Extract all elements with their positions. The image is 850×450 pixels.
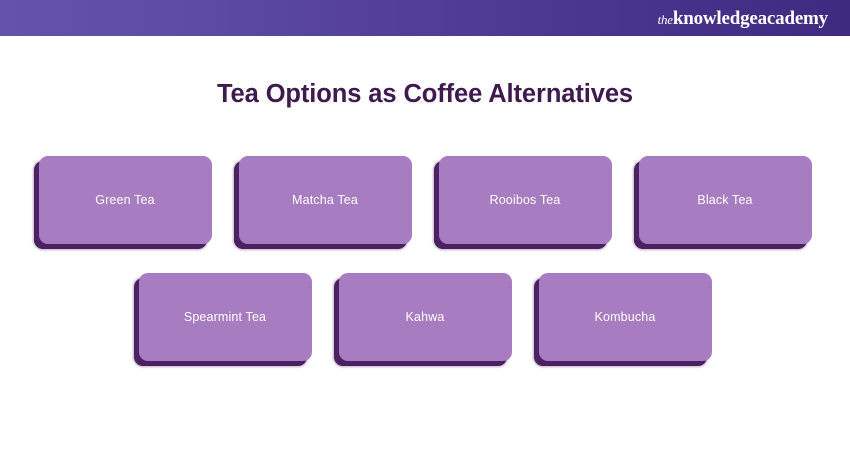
tea-option-label: Green Tea	[87, 193, 163, 208]
brand-prefix-text: the	[658, 12, 673, 27]
tea-option-label: Rooibos Tea	[482, 193, 569, 208]
tea-option-label: Kombucha	[587, 310, 664, 325]
card-row-1: Green Tea Matcha Tea Rooibos Tea Black T…	[0, 156, 850, 244]
brand-name-text: knowledgeacademy	[673, 8, 828, 29]
tea-option-label: Matcha Tea	[284, 193, 366, 208]
brand-logo: theknowledgeacademy	[658, 9, 828, 28]
tea-option-label: Kahwa	[398, 310, 453, 325]
page-title: Tea Options as Coffee Alternatives	[0, 80, 850, 109]
tea-option-card[interactable]: Kahwa	[339, 273, 512, 361]
card-grid: Green Tea Matcha Tea Rooibos Tea Black T…	[0, 156, 850, 361]
tea-option-card[interactable]: Rooibos Tea	[439, 156, 612, 244]
tea-option-label: Black Tea	[689, 193, 760, 208]
tea-option-card[interactable]: Spearmint Tea	[139, 273, 312, 361]
header-bar: theknowledgeacademy	[0, 0, 850, 36]
tea-option-card[interactable]: Matcha Tea	[239, 156, 412, 244]
tea-option-label: Spearmint Tea	[176, 310, 274, 325]
card-row-2: Spearmint Tea Kahwa Kombucha	[0, 273, 850, 361]
slide-canvas: theknowledgeacademy Tea Options as Coffe…	[0, 0, 850, 450]
tea-option-card[interactable]: Green Tea	[39, 156, 212, 244]
tea-option-card[interactable]: Kombucha	[539, 273, 712, 361]
tea-option-card[interactable]: Black Tea	[639, 156, 812, 244]
